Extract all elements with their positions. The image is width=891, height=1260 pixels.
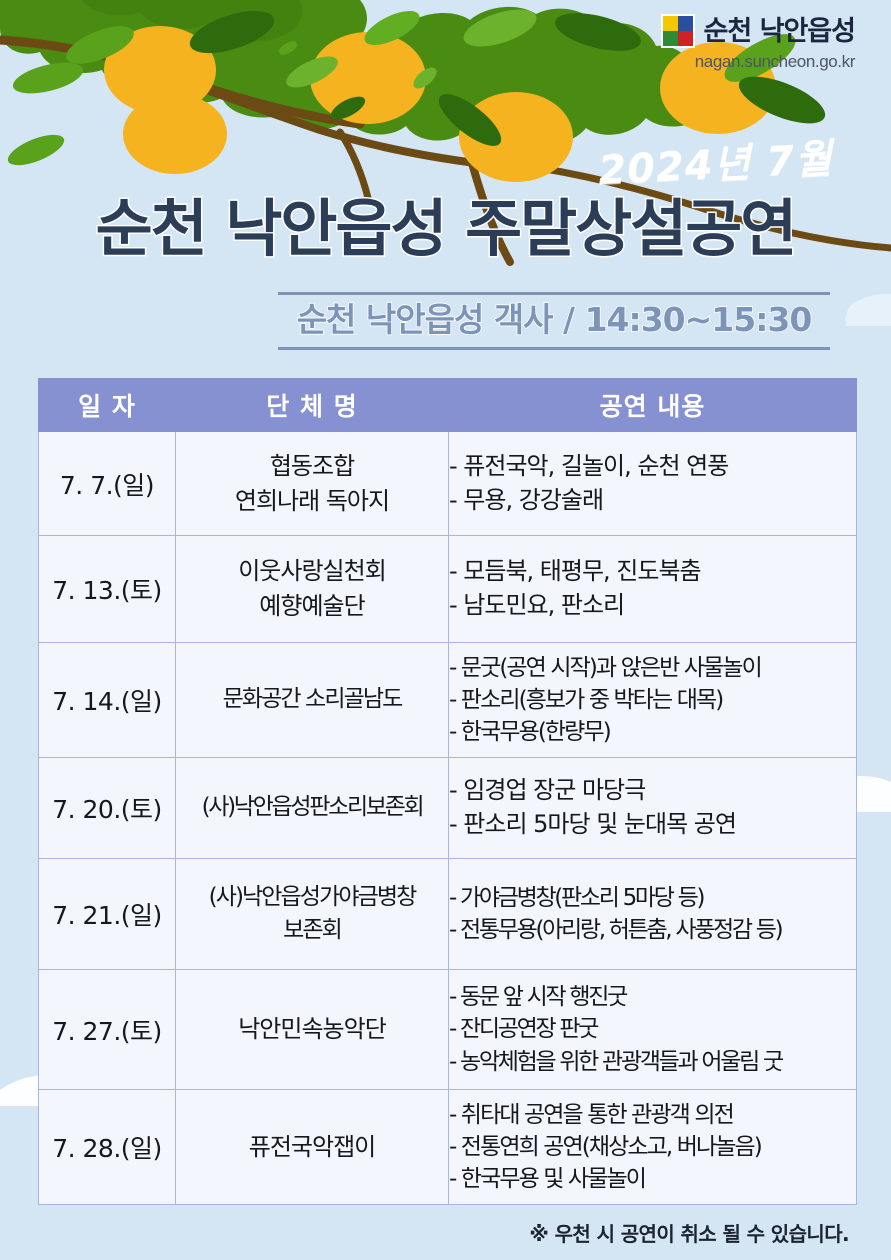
schedule-table: 일 자 단 체 명 공연 내용 7. 7.(일) 협동조합 연희나래 독아지 -…: [38, 378, 857, 1205]
program-line: - 문굿(공연 시작)과 앉은반 사물놀이: [449, 652, 856, 684]
program-line: - 취타대 공연을 통한 관광객 의전: [449, 1099, 856, 1131]
cell-program: - 취타대 공연을 통한 관광객 의전 - 전통연희 공연(채상소고, 버나놀음…: [449, 1090, 857, 1205]
group-line: 퓨전국악잽이: [176, 1130, 448, 1165]
table-header-row: 일 자 단 체 명 공연 내용: [39, 379, 857, 432]
group-line: 낙안민속농악단: [176, 1012, 448, 1047]
brand-block: 순천 낙안읍성 nagan.suncheon.go.kr: [661, 14, 855, 70]
cell-date: 7. 21.(일): [39, 859, 176, 970]
group-line: 보존회: [176, 914, 448, 947]
cell-program: - 퓨전국악, 길놀이, 순천 연풍 - 무용, 강강술래: [449, 432, 857, 536]
cell-date: 7. 28.(일): [39, 1090, 176, 1205]
program-line: - 동문 앞 시작 행진굿: [449, 981, 856, 1013]
cell-program: - 임경업 장군 마당극 - 판소리 5마당 및 눈대목 공연: [449, 758, 857, 859]
nagan-emblem-icon: [661, 14, 695, 48]
table-row: 7. 20.(토) (사)낙안읍성판소리보존회 - 임경업 장군 마당극 - 판…: [39, 758, 857, 859]
group-line: 이웃사랑실천회: [176, 554, 448, 589]
cell-program: - 모듬북, 태평무, 진도북춤 - 남도민요, 판소리: [449, 536, 857, 643]
program-line: - 임경업 장군 마당극: [449, 774, 856, 808]
cell-date: 7. 14.(일): [39, 643, 176, 758]
cell-group: 문화공간 소리골남도: [176, 643, 449, 758]
group-line: 연희나래 독아지: [176, 484, 448, 519]
schedule-table-wrapper: 일 자 단 체 명 공연 내용 7. 7.(일) 협동조합 연희나래 독아지 -…: [38, 378, 856, 1205]
cell-date: 7. 20.(토): [39, 758, 176, 859]
poster-canvas: 순천 낙안읍성 nagan.suncheon.go.kr 2024년 7월 순천…: [0, 0, 891, 1260]
cell-date: 7. 7.(일): [39, 432, 176, 536]
program-line: - 전통무용(아리랑, 허튼춤, 사풍정감 등): [449, 914, 856, 946]
program-line: - 한국무용(한량무): [449, 716, 856, 748]
brand-name: 순천 낙안읍성: [704, 18, 855, 45]
program-line: - 한국무용 및 사물놀이: [449, 1163, 856, 1195]
cell-group: (사)낙안읍성판소리보존회: [176, 758, 449, 859]
cell-group: 낙안민속농악단: [176, 970, 449, 1090]
table-row: 7. 28.(일) 퓨전국악잽이 - 취타대 공연을 통한 관광객 의전 - 전…: [39, 1090, 857, 1205]
group-line: 예향예술단: [176, 589, 448, 624]
table-row: 7. 27.(토) 낙안민속농악단 - 동문 앞 시작 행진굿 - 잔디공연장 …: [39, 970, 857, 1090]
column-header-date: 일 자: [39, 379, 176, 432]
cell-program: - 동문 앞 시작 행진굿 - 잔디공연장 판굿 - 농악체험을 위한 관광객들…: [449, 970, 857, 1090]
program-line: - 무용, 강강술래: [449, 484, 856, 518]
cell-group: 퓨전국악잽이: [176, 1090, 449, 1205]
table-row: 7. 14.(일) 문화공간 소리골남도 - 문굿(공연 시작)과 앉은반 사물…: [39, 643, 857, 758]
table-row: 7. 7.(일) 협동조합 연희나래 독아지 - 퓨전국악, 길놀이, 순천 연…: [39, 432, 857, 536]
subtitle-block: 순천 낙안읍성 객사 / 14:30~15:30: [278, 292, 830, 350]
program-line: - 농악체험을 위한 관광객들과 어울림 굿: [449, 1046, 856, 1078]
cell-program: - 문굿(공연 시작)과 앉은반 사물놀이 - 판소리(흥보가 중 박타는 대목…: [449, 643, 857, 758]
program-line: - 모듬북, 태평무, 진도북춤: [449, 555, 856, 589]
cell-group: 협동조합 연희나래 독아지: [176, 432, 449, 536]
brand-row: 순천 낙안읍성: [661, 14, 855, 48]
cell-program: - 가야금병창(판소리 5마당 등) - 전통무용(아리랑, 허튼춤, 사풍정감…: [449, 859, 857, 970]
foliage-canopy: [0, 0, 711, 145]
program-line: - 남도민요, 판소리: [449, 589, 856, 623]
program-line: - 판소리(흥보가 중 박타는 대목): [449, 684, 856, 716]
cell-group: 이웃사랑실천회 예향예술단: [176, 536, 449, 643]
cell-date: 7. 27.(토): [39, 970, 176, 1090]
column-header-program: 공연 내용: [449, 379, 857, 432]
program-line: - 퓨전국악, 길놀이, 순천 연풍: [449, 450, 856, 484]
program-line: - 가야금병창(판소리 5마당 등): [449, 882, 856, 914]
group-line: (사)낙안읍성가야금병창: [176, 881, 448, 914]
group-line: (사)낙안읍성판소리보존회: [176, 791, 448, 824]
program-line: - 잔디공연장 판굿: [449, 1013, 856, 1045]
weather-cancellation-note: ※ 우천 시 공연이 취소 될 수 있습니다.: [529, 1218, 849, 1247]
table-row: 7. 21.(일) (사)낙안읍성가야금병창 보존회 - 가야금병창(판소리 5…: [39, 859, 857, 970]
cell-group: (사)낙안읍성가야금병창 보존회: [176, 859, 449, 970]
group-line: 문화공간 소리골남도: [176, 683, 448, 716]
brand-url: nagan.suncheon.go.kr: [661, 53, 855, 70]
cell-date: 7. 13.(토): [39, 536, 176, 643]
schedule-table-body: 7. 7.(일) 협동조합 연희나래 독아지 - 퓨전국악, 길놀이, 순천 연…: [39, 432, 857, 1205]
group-line: 협동조합: [176, 449, 448, 484]
venue-time-subtitle: 순천 낙안읍성 객사 / 14:30~15:30: [278, 301, 830, 339]
table-row: 7. 13.(토) 이웃사랑실천회 예향예술단 - 모듬북, 태평무, 진도북춤…: [39, 536, 857, 643]
program-line: - 전통연희 공연(채상소고, 버나놀음): [449, 1131, 856, 1163]
column-header-group: 단 체 명: [176, 379, 449, 432]
date-tag: 2024년 7월: [597, 126, 834, 196]
program-line: - 판소리 5마당 및 눈대목 공연: [449, 808, 856, 842]
page-title: 순천 낙안읍성 주말상설공연: [0, 196, 891, 261]
